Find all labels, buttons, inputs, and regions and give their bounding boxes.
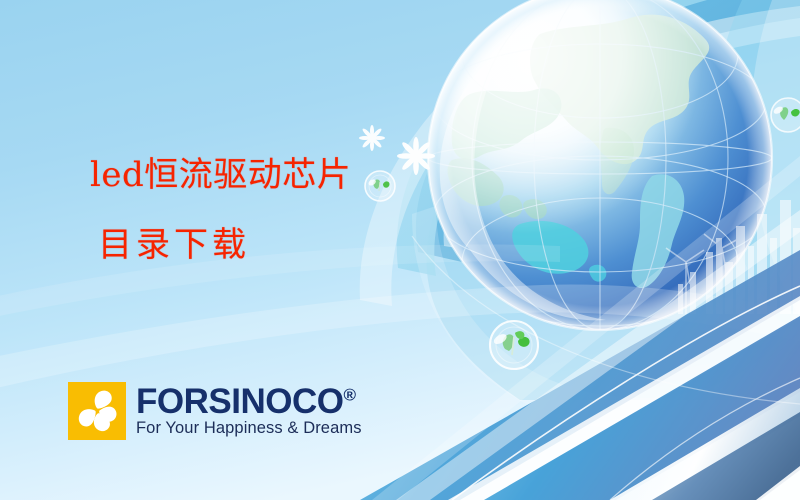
ribbon-arcs [360,0,800,430]
logo-tagline: For Your Happiness & Dreams [136,420,362,437]
bottom-ribbons [360,156,800,500]
logo-text-lockup: FORSINOCO® For Your Happiness & Dreams [136,385,362,437]
headline-line-1: led恒流驱动芯片 [90,158,402,192]
promo-banner: led恒流驱动芯片 目录下载 FORSINOCO® For Your Happi… [0,0,800,500]
company-logo: FORSINOCO® For Your Happiness & Dreams [68,382,362,440]
white-flower-small [359,125,385,151]
logo-wordmark-text: FORSINOCO [136,382,343,421]
globe-graphic [412,0,800,430]
white-flower-large [397,137,435,175]
eco-bubble-large [490,321,538,369]
city-skyline [666,200,800,314]
registered-trademark-icon: ® [343,385,355,404]
soft-curve-band [0,244,800,392]
headline-block: led恒流驱动芯片 目录下载 [72,158,402,262]
forsinoco-pinwheel-mark-icon [68,382,126,440]
highlight-lines [412,236,800,500]
eco-bubble-top [771,98,800,132]
headline-line-2: 目录下载 [98,228,402,262]
logo-wordmark: FORSINOCO® [136,385,362,419]
